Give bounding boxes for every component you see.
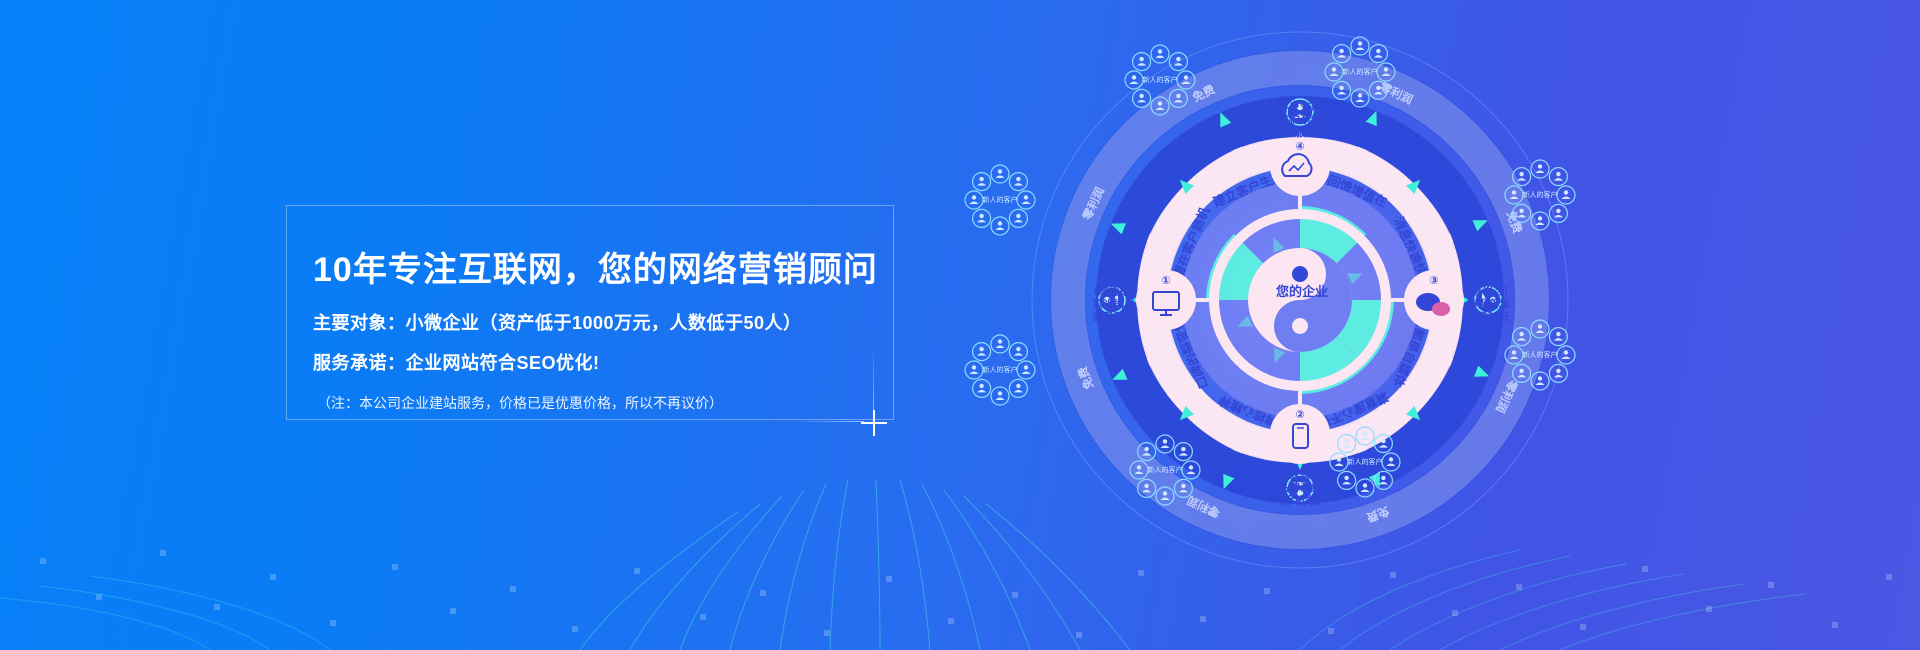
satellite-cluster-label: 新人的客户: [1343, 67, 1378, 76]
person-head-icon: [1016, 347, 1020, 351]
satellite-cluster-label: 新人的客户: [983, 195, 1018, 204]
person-head-icon: [1016, 177, 1020, 181]
person-body-icon: [1014, 183, 1023, 186]
person-body-icon: [1342, 482, 1351, 485]
person-badge-icon: [1009, 379, 1027, 397]
person-body-icon: [1517, 215, 1526, 218]
person-body-icon: [1356, 100, 1365, 103]
person-head-icon: [998, 169, 1002, 173]
price-note-line: （注：本公司企业建站服务，价格已是优惠价格，所以不再议价）: [317, 393, 723, 413]
satellite-cluster-label: 新人的客户: [1348, 457, 1383, 466]
person-head-icon: [1016, 384, 1020, 388]
person-head-icon: [1181, 447, 1185, 451]
person-head-icon: [1564, 190, 1568, 194]
person-body-icon: [970, 372, 979, 375]
person-badge-icon: [1009, 173, 1027, 191]
person-badge-icon: [1557, 186, 1575, 204]
satellite-cluster: 新人的客户: [1505, 160, 1575, 230]
person-badge-icon: [1351, 89, 1369, 107]
person-badge-icon: [1138, 443, 1156, 461]
person-body-icon: [1554, 375, 1563, 378]
person-body-icon: [1361, 490, 1370, 493]
person-badge-icon: [1382, 453, 1400, 471]
person-badge-icon: [1169, 53, 1187, 71]
person-body-icon: [996, 228, 1005, 231]
person-head-icon: [1339, 49, 1343, 53]
person-head-icon: [1512, 190, 1516, 194]
person-head-icon: [1332, 67, 1336, 71]
satellite-cluster-label: 新人的客户: [1523, 190, 1558, 199]
person-head-icon: [1358, 41, 1362, 45]
person-head-icon: [1163, 491, 1167, 495]
satellite-cluster: 新人的客户: [1130, 435, 1200, 505]
person-badge-icon: [1549, 364, 1567, 382]
person-body-icon: [1517, 338, 1526, 341]
person-badge-icon: [1369, 45, 1387, 63]
person-head-icon: [1139, 57, 1143, 61]
satellite-cluster: 新人的客户: [965, 335, 1035, 405]
person-badge-icon: [1017, 191, 1035, 209]
person-body-icon: [1379, 445, 1388, 448]
person-head-icon: [1176, 94, 1180, 98]
person-body-icon: [1179, 490, 1188, 493]
person-head-icon: [1519, 332, 1523, 336]
person-body-icon: [1337, 55, 1346, 58]
person-head-icon: [979, 384, 983, 388]
person-head-icon: [1339, 86, 1343, 90]
person-body-icon: [1014, 390, 1023, 393]
person-body-icon: [1179, 453, 1188, 456]
service-promise-line: 服务承诺：企业网站符合SEO优化!: [313, 349, 600, 375]
person-badge-icon: [1174, 479, 1192, 497]
person-body-icon: [1562, 357, 1571, 360]
person-badge-icon: [1377, 63, 1395, 81]
person-badge-icon: [965, 191, 983, 209]
person-badge-icon: [991, 335, 1009, 353]
person-badge-icon: [1531, 320, 1549, 338]
person-head-icon: [1189, 465, 1193, 469]
person-body-icon: [1161, 498, 1170, 501]
person-body-icon: [1517, 375, 1526, 378]
person-body-icon: [1182, 82, 1191, 85]
person-head-icon: [1389, 457, 1393, 461]
person-head-icon: [1024, 365, 1028, 369]
person-badge-icon: [1549, 168, 1567, 186]
person-head-icon: [1163, 439, 1167, 443]
person-body-icon: [1156, 108, 1165, 111]
person-body-icon: [1510, 357, 1519, 360]
person-badge-icon: [1009, 343, 1027, 361]
person-body-icon: [1330, 74, 1339, 77]
person-badge-icon: [1174, 443, 1192, 461]
person-badge-icon: [1513, 328, 1531, 346]
person-body-icon: [1156, 56, 1165, 59]
person-body-icon: [1174, 63, 1183, 66]
person-badge-icon: [1374, 471, 1392, 489]
person-badge-icon: [1330, 453, 1348, 471]
person-body-icon: [996, 176, 1005, 179]
satellite-cluster-label: 新人的客户: [983, 365, 1018, 374]
person-head-icon: [1384, 67, 1388, 71]
person-head-icon: [1376, 86, 1380, 90]
person-badge-icon: [1151, 45, 1169, 63]
person-head-icon: [1344, 476, 1348, 480]
person-badge-icon: [1513, 204, 1531, 222]
person-badge-icon: [991, 165, 1009, 183]
person-head-icon: [1024, 195, 1028, 199]
person-body-icon: [1510, 197, 1519, 200]
person-head-icon: [1358, 93, 1362, 97]
person-badge-icon: [1156, 435, 1174, 453]
person-badge-icon: [973, 379, 991, 397]
person-body-icon: [1517, 178, 1526, 181]
person-badge-icon: [973, 343, 991, 361]
person-body-icon: [1137, 63, 1146, 66]
person-body-icon: [1536, 383, 1545, 386]
person-badge-icon: [965, 361, 983, 379]
person-head-icon: [979, 347, 983, 351]
person-badge-icon: [1130, 461, 1148, 479]
person-body-icon: [1174, 100, 1183, 103]
person-body-icon: [1554, 215, 1563, 218]
person-head-icon: [1556, 332, 1560, 336]
person-body-icon: [1161, 446, 1170, 449]
person-body-icon: [1187, 472, 1196, 475]
person-body-icon: [977, 353, 986, 356]
person-head-icon: [972, 195, 976, 199]
person-body-icon: [1382, 74, 1391, 77]
person-badge-icon: [1138, 479, 1156, 497]
person-body-icon: [1337, 92, 1346, 95]
person-badge-icon: [991, 217, 1009, 235]
satellite-cluster-layer: 新人的客户新人的客户新人的客户新人的客户新人的客户新人的客户新人的客户新人的客户: [840, 0, 1920, 580]
person-head-icon: [1519, 172, 1523, 176]
person-badge-icon: [1531, 372, 1549, 390]
person-badge-icon: [1356, 427, 1374, 445]
person-badge-icon: [991, 387, 1009, 405]
person-head-icon: [1519, 369, 1523, 373]
person-head-icon: [1181, 484, 1185, 488]
person-body-icon: [977, 390, 986, 393]
person-body-icon: [1356, 48, 1365, 51]
person-head-icon: [1519, 209, 1523, 213]
person-body-icon: [1536, 331, 1545, 334]
person-head-icon: [1564, 350, 1568, 354]
person-body-icon: [1361, 438, 1370, 441]
satellite-cluster-label: 新人的客户: [1148, 465, 1183, 474]
person-head-icon: [1144, 484, 1148, 488]
person-badge-icon: [1356, 479, 1374, 497]
person-head-icon: [1538, 376, 1542, 380]
person-head-icon: [1137, 465, 1141, 469]
person-head-icon: [1538, 324, 1542, 328]
person-head-icon: [998, 339, 1002, 343]
person-body-icon: [1142, 453, 1151, 456]
person-head-icon: [1337, 457, 1341, 461]
person-body-icon: [1014, 220, 1023, 223]
person-head-icon: [1176, 57, 1180, 61]
person-badge-icon: [1505, 186, 1523, 204]
person-head-icon: [1538, 164, 1542, 168]
person-badge-icon: [1177, 71, 1195, 89]
marketing-banner: 10年专注互联网，您的网络营销顾问 主要对象：小微企业（资产低于1000万元，人…: [0, 0, 1920, 650]
person-head-icon: [1016, 214, 1020, 218]
person-body-icon: [1335, 464, 1344, 467]
satellite-cluster-label: 新人的客户: [1143, 75, 1178, 84]
person-head-icon: [1158, 49, 1162, 53]
person-badge-icon: [1017, 361, 1035, 379]
person-head-icon: [979, 177, 983, 181]
person-head-icon: [1158, 101, 1162, 105]
person-badge-icon: [1374, 435, 1392, 453]
person-head-icon: [1376, 49, 1380, 53]
promo-text-box: 10年专注互联网，您的网络营销顾问 主要对象：小微企业（资产低于1000万元，人…: [286, 205, 894, 420]
person-badge-icon: [1351, 37, 1369, 55]
person-head-icon: [1381, 476, 1385, 480]
person-badge-icon: [973, 209, 991, 227]
promo-inner: 10年专注互联网，您的网络营销顾问 主要对象：小微企业（资产低于1000万元，人…: [287, 206, 893, 419]
person-body-icon: [1387, 464, 1396, 467]
person-body-icon: [1374, 55, 1383, 58]
target-audience-line: 主要对象：小微企业（资产低于1000万元，人数低于50人）: [313, 309, 802, 335]
person-badge-icon: [1125, 71, 1143, 89]
person-badge-icon: [1513, 168, 1531, 186]
person-head-icon: [1363, 483, 1367, 487]
person-head-icon: [998, 391, 1002, 395]
person-badge-icon: [1338, 471, 1356, 489]
person-body-icon: [977, 183, 986, 186]
person-body-icon: [1022, 202, 1031, 205]
person-head-icon: [1512, 350, 1516, 354]
person-body-icon: [977, 220, 986, 223]
person-badge-icon: [1557, 346, 1575, 364]
person-badge-icon: [1009, 209, 1027, 227]
person-head-icon: [979, 214, 983, 218]
person-head-icon: [1556, 369, 1560, 373]
person-head-icon: [1556, 172, 1560, 176]
person-body-icon: [1536, 171, 1545, 174]
satellite-cluster: 新人的客户: [965, 165, 1035, 235]
person-badge-icon: [1182, 461, 1200, 479]
person-badge-icon: [1169, 89, 1187, 107]
person-head-icon: [1144, 447, 1148, 451]
person-head-icon: [1132, 75, 1136, 79]
satellite-cluster: 新人的客户: [1125, 45, 1195, 115]
person-badge-icon: [1133, 53, 1151, 71]
person-body-icon: [1130, 82, 1139, 85]
person-badge-icon: [1325, 63, 1343, 81]
satellite-cluster: 新人的客户: [1325, 37, 1395, 107]
person-badge-icon: [1513, 364, 1531, 382]
person-body-icon: [1014, 353, 1023, 356]
person-head-icon: [1184, 75, 1188, 79]
person-head-icon: [998, 221, 1002, 225]
person-head-icon: [1538, 216, 1542, 220]
person-badge-icon: [1156, 487, 1174, 505]
person-body-icon: [1022, 372, 1031, 375]
person-badge-icon: [1151, 97, 1169, 115]
person-body-icon: [1379, 482, 1388, 485]
person-body-icon: [970, 202, 979, 205]
person-head-icon: [1381, 439, 1385, 443]
person-badge-icon: [1549, 204, 1567, 222]
satellite-cluster: 新人的客户: [1505, 320, 1575, 390]
person-head-icon: [1556, 209, 1560, 213]
page-title: 10年专注互联网，您的网络营销顾问: [313, 242, 878, 291]
person-body-icon: [996, 346, 1005, 349]
person-badge-icon: [1133, 89, 1151, 107]
person-body-icon: [996, 398, 1005, 401]
person-badge-icon: [1333, 45, 1351, 63]
person-body-icon: [1137, 100, 1146, 103]
person-body-icon: [1142, 490, 1151, 493]
satellite-cluster: 新人的客户: [1330, 427, 1400, 497]
person-badge-icon: [1369, 81, 1387, 99]
person-head-icon: [1344, 439, 1348, 443]
person-badge-icon: [1333, 81, 1351, 99]
person-badge-icon: [973, 173, 991, 191]
person-badge-icon: [1505, 346, 1523, 364]
person-badge-icon: [1338, 435, 1356, 453]
person-body-icon: [1554, 178, 1563, 181]
person-badge-icon: [1531, 160, 1549, 178]
person-body-icon: [1342, 445, 1351, 448]
satellite-cluster-label: 新人的客户: [1523, 350, 1558, 359]
person-body-icon: [1374, 92, 1383, 95]
person-body-icon: [1562, 197, 1571, 200]
person-body-icon: [1536, 223, 1545, 226]
person-head-icon: [972, 365, 976, 369]
person-head-icon: [1363, 431, 1367, 435]
person-body-icon: [1554, 338, 1563, 341]
person-head-icon: [1139, 94, 1143, 98]
person-badge-icon: [1549, 328, 1567, 346]
person-badge-icon: [1531, 212, 1549, 230]
person-body-icon: [1135, 472, 1144, 475]
